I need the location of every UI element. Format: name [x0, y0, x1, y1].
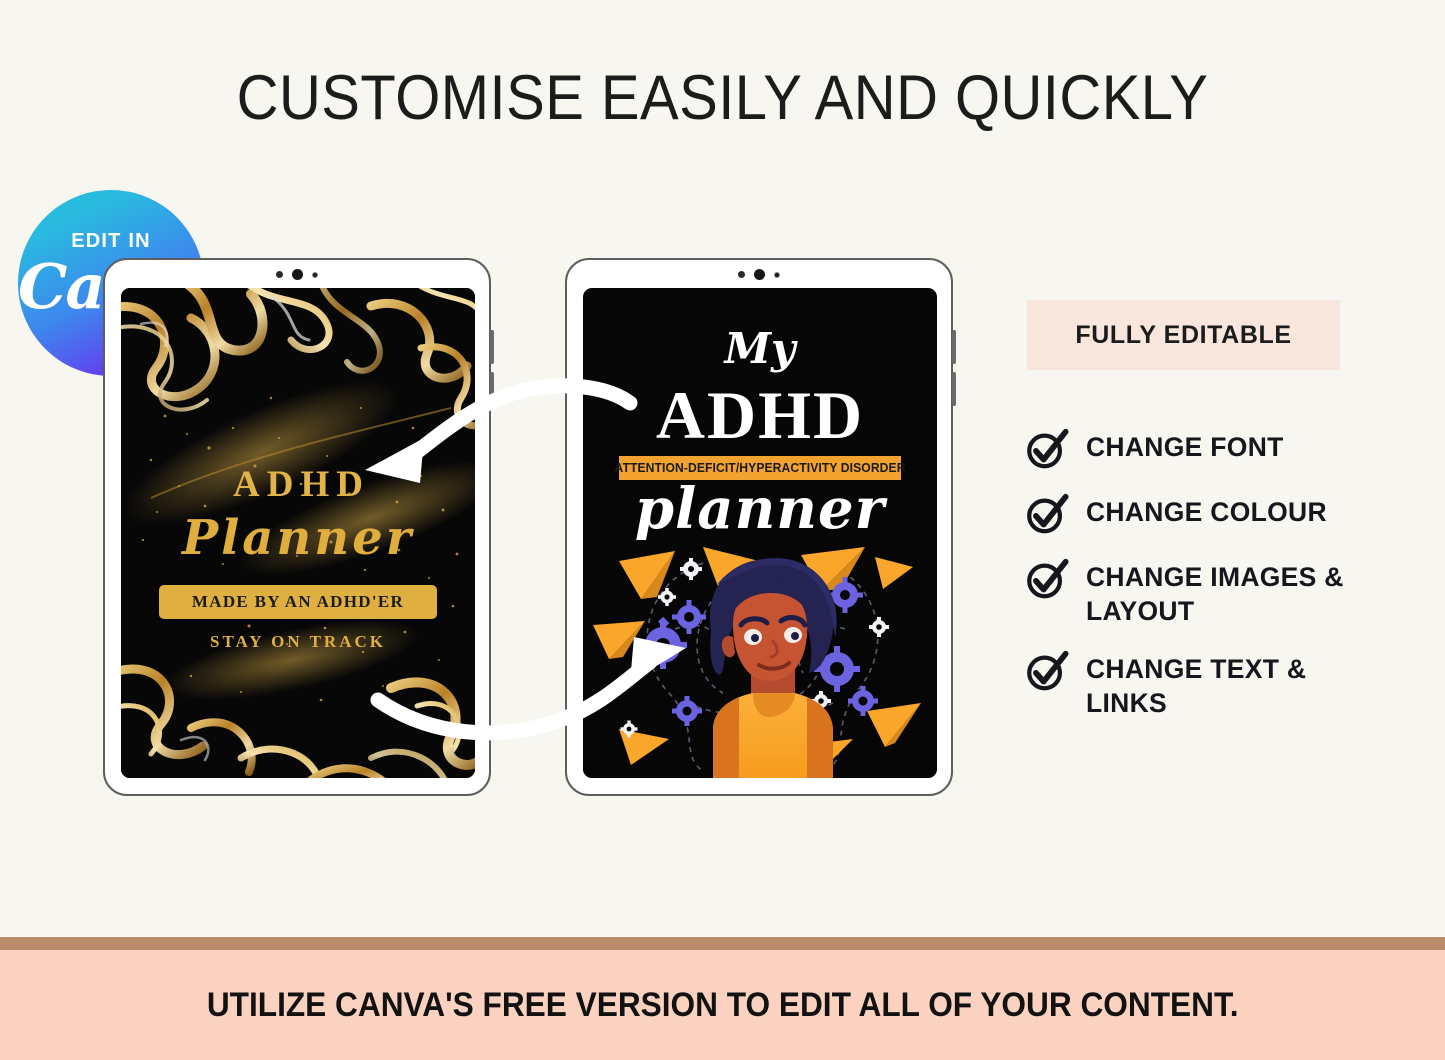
cover-right-eyebrow: My	[583, 324, 937, 373]
tablet-mockup-right[interactable]: My ADHD ATTENTION-DEFICIT/HYPERACTIVITY …	[565, 258, 953, 796]
camera-light-icon	[774, 272, 780, 278]
cover-left-tagline: STAY ON TRACK	[121, 632, 475, 652]
cover-left-badge-label: MADE BY AN ADHD'ER	[192, 592, 404, 612]
feature-label: CHANGE IMAGES & LAYOUT	[1086, 558, 1386, 629]
cover-right-title: ADHD	[583, 376, 937, 455]
adhd-person-illustration	[583, 533, 937, 778]
check-circle-icon	[1023, 491, 1070, 537]
camera-lens-icon	[754, 269, 765, 280]
tablet-camera-row	[105, 269, 489, 280]
camera-sensor-icon	[738, 271, 745, 278]
volume-down-button[interactable]	[952, 372, 956, 406]
feature-label: CHANGE COLOUR	[1086, 493, 1327, 530]
footer-text: UTILIZE CANVA'S FREE VERSION TO EDIT ALL…	[207, 986, 1239, 1025]
volume-down-button[interactable]	[490, 372, 494, 406]
footer-stripe	[0, 937, 1445, 950]
volume-up-button[interactable]	[952, 330, 956, 364]
cover-left-title: ADHD	[121, 463, 475, 506]
page-title: CUSTOMISE EASILY AND QUICKLY	[58, 62, 1387, 134]
camera-lens-icon	[292, 269, 303, 280]
cover-left-subtitle: Planner	[121, 510, 475, 566]
check-circle-icon	[1023, 556, 1070, 602]
feature-list: CHANGE FONT CHANGE COLOUR CHANGE IMAGES …	[1023, 428, 1423, 742]
feature-item: CHANGE TEXT & LINKS	[1023, 650, 1423, 721]
feature-item: CHANGE IMAGES & LAYOUT	[1023, 558, 1423, 629]
feature-item: CHANGE COLOUR	[1023, 493, 1423, 537]
fully-editable-label: FULLY EDITABLE	[1075, 321, 1291, 350]
tablet-camera-row	[567, 269, 951, 280]
check-circle-icon	[1023, 648, 1070, 694]
camera-light-icon	[312, 272, 318, 278]
tablet-mockup-left[interactable]: ADHD Planner MADE BY AN ADHD'ER STAY ON …	[103, 258, 491, 796]
cover-right-banner-label: ATTENTION-DEFICIT/HYPERACTIVITY DISORDER	[614, 461, 905, 475]
volume-up-button[interactable]	[490, 330, 494, 364]
camera-sensor-icon	[276, 271, 283, 278]
tablet-left-screen: ADHD Planner MADE BY AN ADHD'ER STAY ON …	[121, 288, 475, 778]
check-circle-icon	[1023, 426, 1070, 472]
tablet-right-screen: My ADHD ATTENTION-DEFICIT/HYPERACTIVITY …	[583, 288, 937, 778]
cover-right-subtitle: planner	[583, 476, 937, 542]
cover-left-badge: MADE BY AN ADHD'ER	[159, 585, 437, 619]
feature-label: CHANGE TEXT & LINKS	[1086, 650, 1356, 721]
feature-label: CHANGE FONT	[1086, 428, 1284, 465]
footer-banner: UTILIZE CANVA'S FREE VERSION TO EDIT ALL…	[0, 950, 1445, 1060]
feature-item: CHANGE FONT	[1023, 428, 1423, 472]
fully-editable-badge: FULLY EDITABLE	[1027, 300, 1340, 370]
